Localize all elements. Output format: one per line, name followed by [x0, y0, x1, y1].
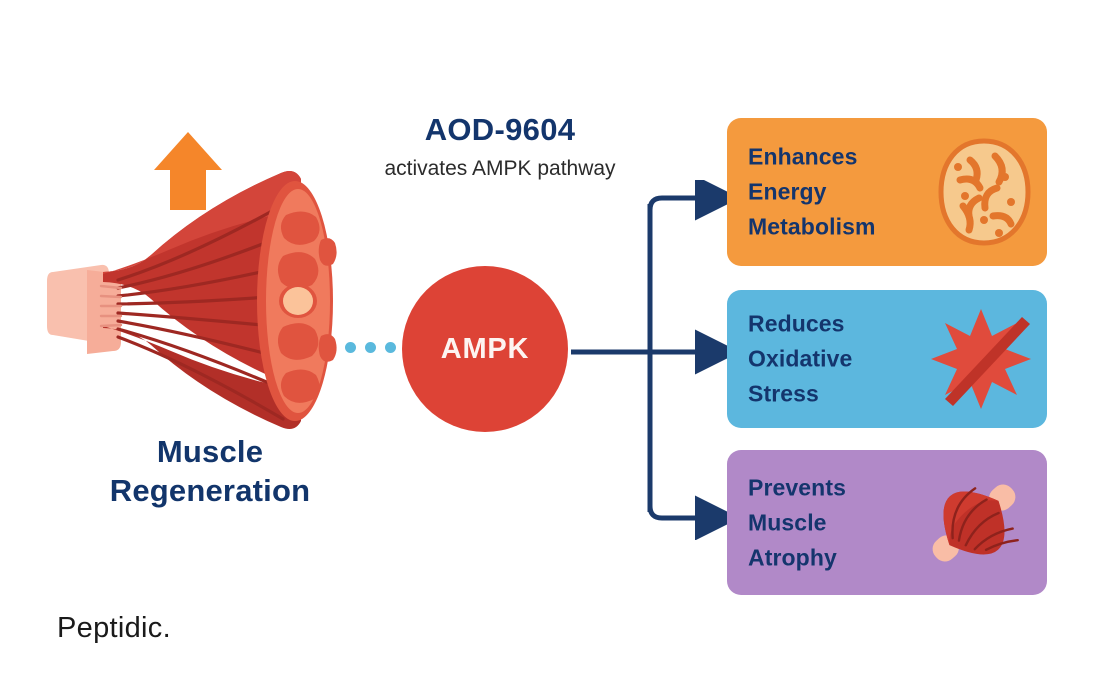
benefit-card-atrophy-label: Prevents Muscle Atrophy	[748, 470, 846, 575]
up-arrow-icon	[154, 132, 222, 210]
mitochondria-icon	[935, 136, 1033, 248]
compound-name-title: AOD-9604	[355, 112, 645, 148]
ampk-node-label: AMPK	[441, 333, 530, 366]
benefit-card-oxidative[interactable]: Reduces Oxidative Stress	[727, 290, 1047, 428]
ampk-node[interactable]: AMPK	[402, 266, 568, 432]
brand-footer: Peptidic.	[57, 612, 171, 645]
muscle-fiber-icon	[915, 464, 1033, 582]
connector-arrows	[560, 180, 730, 540]
free-radical-burst-slashed-icon	[929, 307, 1033, 411]
benefit-card-energy[interactable]: Enhances Energy Metabolism	[727, 118, 1047, 266]
benefit-card-energy-label: Enhances Energy Metabolism	[748, 140, 876, 245]
compound-subtitle: activates AMPK pathway	[355, 155, 645, 183]
benefit-card-oxidative-label: Reduces Oxidative Stress	[748, 307, 852, 412]
muscle-cross-section-icon	[40, 120, 370, 430]
muscle-regeneration-label: Muscle Regeneration	[30, 432, 390, 510]
headline-block: AOD-9604 activates AMPK pathway	[355, 112, 645, 183]
connector-dot	[385, 342, 396, 353]
connector-dot	[365, 342, 376, 353]
connector-dot	[345, 342, 356, 353]
benefit-card-atrophy[interactable]: Prevents Muscle Atrophy	[727, 450, 1047, 595]
diagram-canvas: Muscle Regeneration AOD-9604 activates A…	[0, 0, 1100, 700]
